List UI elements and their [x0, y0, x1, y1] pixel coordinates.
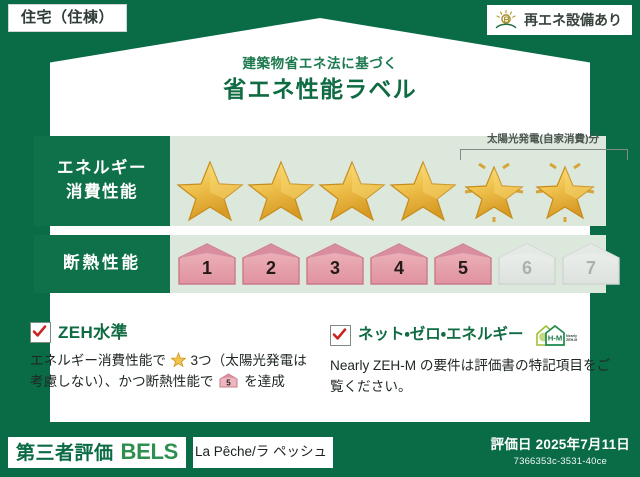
insulation-grade-badge: 4 — [368, 241, 430, 287]
insulation-row: 断熱性能 1 2 — [34, 235, 606, 293]
footer-bels: 第三者評価 BELS La Pêche/ラ ペッシュ — [8, 437, 333, 468]
checkbox-checked-icon — [330, 325, 351, 346]
insulation-grade-badge-inactive: 6 — [496, 241, 558, 287]
insulation-grade-value: 5 — [432, 241, 494, 287]
star-rating — [170, 156, 606, 222]
energy-consumption-panel: 太陽光発電(自家消費)分 — [170, 136, 606, 226]
solar-annotation-label: 太陽光発電(自家消費)分 — [454, 134, 632, 146]
svg-text:5: 5 — [227, 379, 232, 388]
star-icon — [389, 156, 457, 222]
insulation-grade-badge-inline: 5 — [219, 373, 238, 388]
insulation-grade-badge: 1 — [176, 241, 238, 287]
evaluation-id: 7366353c-3531-40ce — [491, 456, 630, 467]
owner-name-box: La Pêche/ラ ペッシュ — [193, 437, 333, 468]
insulation-grade-badge-inactive: 7 — [560, 241, 622, 287]
star-icon-inline — [171, 352, 186, 367]
insulation-grade-value: 4 — [368, 241, 430, 287]
bels-badge: 第三者評価 BELS — [8, 437, 186, 468]
insulation-panel: 1 2 3 4 — [170, 235, 606, 293]
zeh-body-text-part3: を達成 — [244, 374, 285, 389]
insulation-label: 断熱性能 — [34, 235, 170, 293]
owner-name: La Pêche/ラ ペッシュ — [195, 444, 327, 459]
insulation-grade-badge: 2 — [240, 241, 302, 287]
insulation-grade-badge: 5 — [432, 241, 494, 287]
net-zero-energy-title: ネット・ゼロ・エネルギー — [358, 327, 524, 343]
insulation-grade-value: 6 — [496, 241, 558, 287]
net-zero-energy-block: ネット・ゼロ・エネルギー H-M Nearly ZEH-M Nearly ZEH… — [330, 322, 616, 398]
insulation-grade-value: 2 — [240, 241, 302, 287]
zeh-standard-block: ZEH水準 エネルギー消費性能で 3つ（太陽光発電は考慮しない）、かつ断熱性能で… — [30, 322, 316, 398]
insulation-grade-value: 3 — [304, 241, 366, 287]
insulation-grade-badge: 3 — [304, 241, 366, 287]
svg-text:ZEH-M: ZEH-M — [566, 338, 577, 342]
bels-en-label: BELS — [121, 441, 178, 463]
checkbox-checked-icon — [30, 322, 51, 343]
title-subtitle: 建築物省エネ法に基づく — [0, 56, 640, 72]
star-icon — [318, 156, 386, 222]
evaluation-date: 評価日 2025年7月11日 — [491, 437, 630, 453]
zeh-standard-title: ZEH水準 — [58, 324, 128, 341]
star-icon — [176, 156, 244, 222]
net-zero-energy-header: ネット・ゼロ・エネルギー H-M Nearly ZEH-M — [330, 322, 616, 348]
zeh-body-text-part1: エネルギー消費性能で — [30, 353, 166, 368]
title-main: 省エネ性能ラベル — [0, 76, 640, 104]
insulation-grade-list: 1 2 3 4 — [170, 235, 612, 293]
star-icon-solar — [460, 156, 528, 222]
energy-consumption-label: エネルギー 消費性能 — [34, 136, 170, 226]
building-type-tab: 住宅（住棟） — [8, 4, 127, 32]
label-title: 建築物省エネ法に基づく 省エネ性能ラベル — [0, 56, 640, 104]
sun-icon — [493, 9, 519, 31]
energy-performance-label: 住宅（住棟） 再エネ設備あり 建築物省エネ法に基づく 省エネ性能ラベル — [0, 0, 640, 477]
renewable-energy-label: 再エネ設備あり — [524, 10, 622, 30]
building-type-label: 住宅（住棟） — [21, 9, 114, 26]
star-icon-solar — [531, 156, 599, 222]
zeh-m-logo-icon: H-M Nearly ZEH-M — [533, 322, 577, 348]
star-icon — [247, 156, 315, 222]
zeh-standard-header: ZEH水準 — [30, 322, 316, 343]
zeh-standard-body: エネルギー消費性能で 3つ（太陽光発電は考慮しない）、かつ断熱性能で 5 を達成 — [30, 350, 316, 393]
energy-consumption-row: エネルギー 消費性能 太陽光発電(自家消費)分 — [34, 136, 606, 226]
svg-text:H-M: H-M — [547, 334, 561, 343]
footer-evaluation: 評価日 2025年7月11日 7366353c-3531-40ce — [491, 437, 630, 467]
renewable-energy-badge: 再エネ設備あり — [487, 5, 632, 35]
bels-ja-label: 第三者評価 — [16, 444, 114, 463]
metric-rows: エネルギー 消費性能 太陽光発電(自家消費)分 — [34, 136, 606, 293]
zeh-sections: ZEH水準 エネルギー消費性能で 3つ（太陽光発電は考慮しない）、かつ断熱性能で… — [30, 322, 610, 398]
insulation-grade-value: 7 — [560, 241, 622, 287]
insulation-grade-value: 1 — [176, 241, 238, 287]
net-zero-energy-body: Nearly ZEH-M の要件は評価書の特記項目をご覧ください。 — [330, 355, 616, 398]
